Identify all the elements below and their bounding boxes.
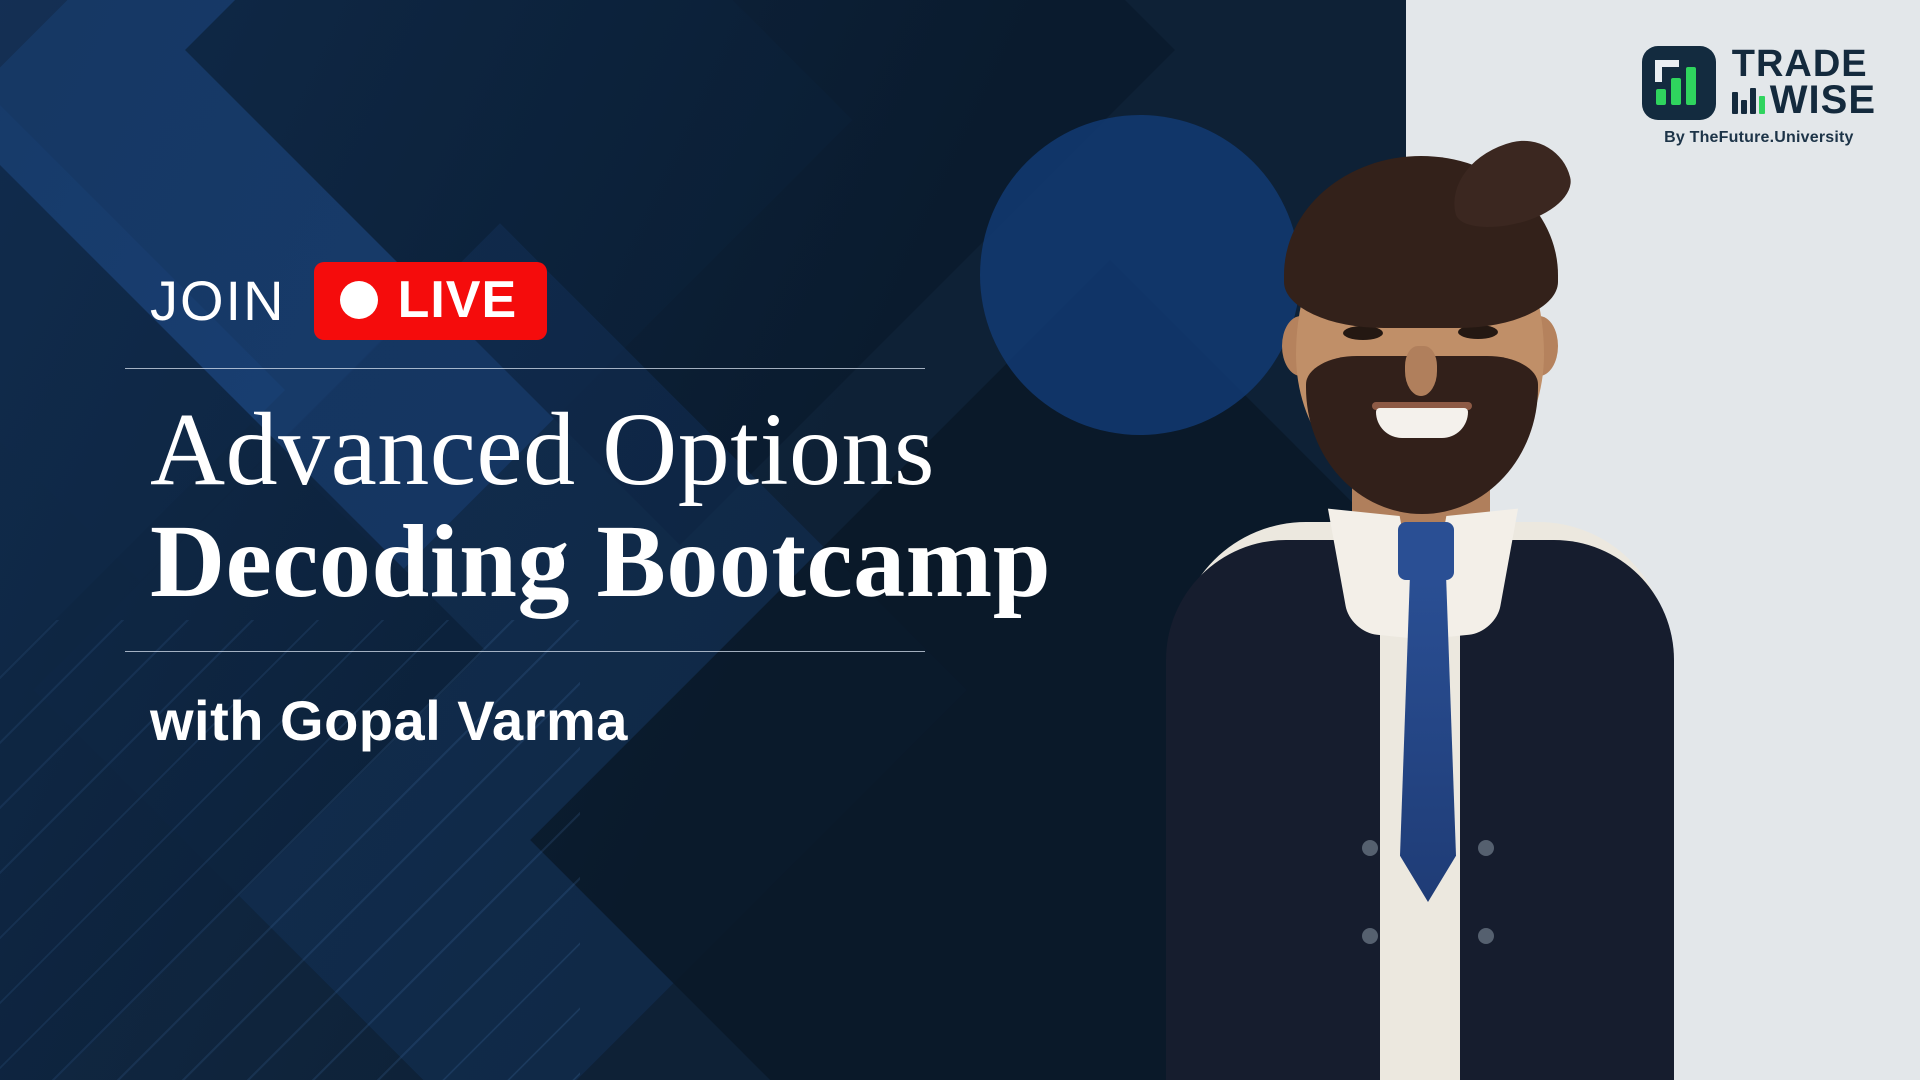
trade-chart-icon: [1642, 46, 1716, 120]
waistcoat-button: [1478, 928, 1494, 944]
logo-wordmark: TRADE WISE: [1732, 47, 1876, 119]
eye-left: [1343, 326, 1383, 340]
waistcoat-button: [1478, 840, 1494, 856]
logo-word-wise: WISE: [1770, 82, 1876, 119]
waistcoat-button: [1362, 928, 1378, 944]
necktie-knot: [1398, 522, 1454, 580]
logo-main-row: TRADE WISE: [1642, 46, 1876, 120]
page-title-line-2: Decoding Bootcamp: [150, 507, 990, 617]
brand-logo[interactable]: TRADE WISE By TheFuture.University: [1642, 46, 1876, 147]
logo-tagline: By TheFuture.University: [1642, 129, 1876, 147]
banner-content: JOIN LIVE Advanced Options Decoding Boot…: [150, 262, 990, 753]
live-label: LIVE: [398, 274, 518, 326]
waistcoat-left: [1166, 540, 1380, 1080]
logo-bars-icon: [1732, 88, 1765, 119]
waistcoat-button: [1362, 840, 1378, 856]
join-live-row: JOIN LIVE: [150, 262, 990, 340]
smile: [1376, 408, 1468, 438]
logo-word-wise-row: WISE: [1732, 82, 1876, 119]
divider-bottom: [125, 651, 925, 652]
presenter-label: with Gopal Varma: [150, 688, 990, 753]
nose: [1405, 346, 1437, 396]
divider-top: [125, 368, 925, 369]
hair-quiff: [1442, 131, 1578, 238]
necktie: [1400, 572, 1456, 902]
presenter-photo: [1100, 70, 1740, 1080]
bar-chart-icon: [1656, 67, 1696, 105]
live-dot-icon: [340, 281, 378, 319]
logo-word-trade: TRADE: [1732, 47, 1876, 82]
live-badge[interactable]: LIVE: [314, 262, 548, 340]
page-title-line-1: Advanced Options: [150, 395, 990, 505]
join-label: JOIN: [150, 273, 286, 329]
promo-banner: JOIN LIVE Advanced Options Decoding Boot…: [0, 0, 1920, 1080]
